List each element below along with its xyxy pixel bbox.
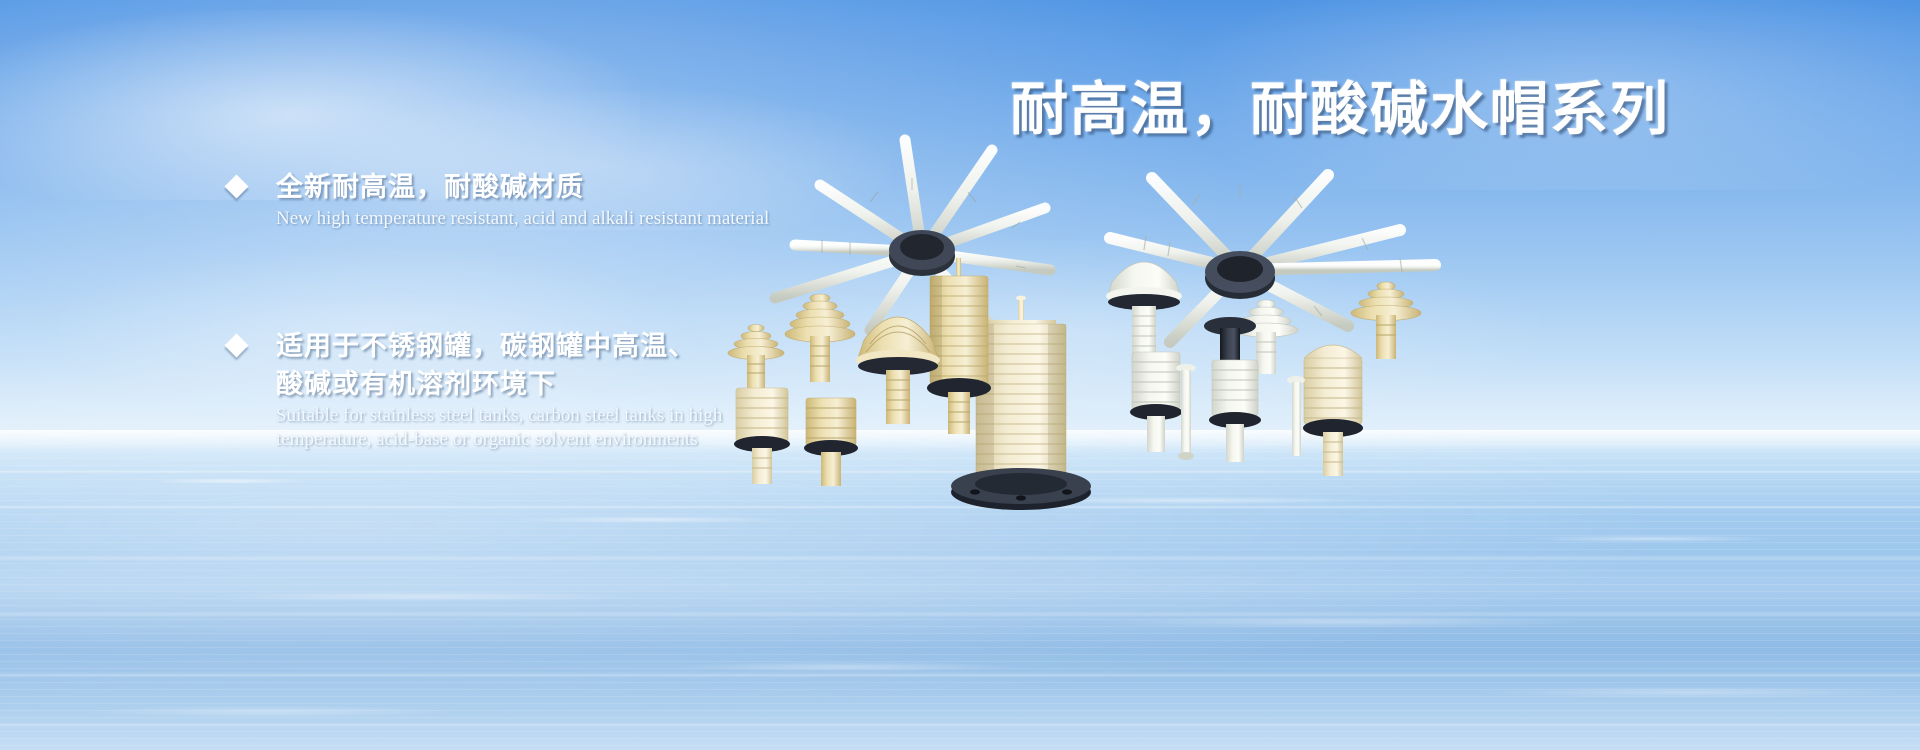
feature-list: 全新耐高温，耐酸碱材质 New high temperature resista… [228, 168, 968, 452]
ribbed-cap-white [1209, 360, 1261, 462]
ribbed-cap-white [1130, 352, 1182, 452]
stem-nozzle-white [1287, 376, 1305, 456]
feature-1-title-cn: 全新耐高温，耐酸碱材质 [276, 168, 968, 206]
stepped-disc-cap-beige-right [1351, 282, 1421, 359]
feature-2-title-cn: 适用于不锈钢罐，碳钢罐中高温、 酸碱或有机溶剂环境下 [276, 327, 968, 403]
feature-item-2: 适用于不锈钢罐，碳钢罐中高温、 酸碱或有机溶剂环境下 Suitable for … [228, 327, 968, 452]
banner-stage: 耐高温，耐酸碱水帽系列 全新耐高温，耐酸碱材质 New high tempera… [0, 0, 1920, 750]
ribbed-cap-cream-right [1303, 345, 1363, 476]
diamond-bullet-icon [224, 333, 248, 357]
diamond-bullet-icon [224, 174, 248, 198]
feature-1-title-en: New high temperature resistant, acid and… [276, 207, 968, 231]
page-title: 耐高温，耐酸碱水帽系列 [1010, 62, 1670, 146]
feature-item-1: 全新耐高温，耐酸碱材质 New high temperature resista… [228, 168, 968, 231]
feature-2-title-en: Suitable for stainless steel tanks, carb… [276, 404, 968, 452]
